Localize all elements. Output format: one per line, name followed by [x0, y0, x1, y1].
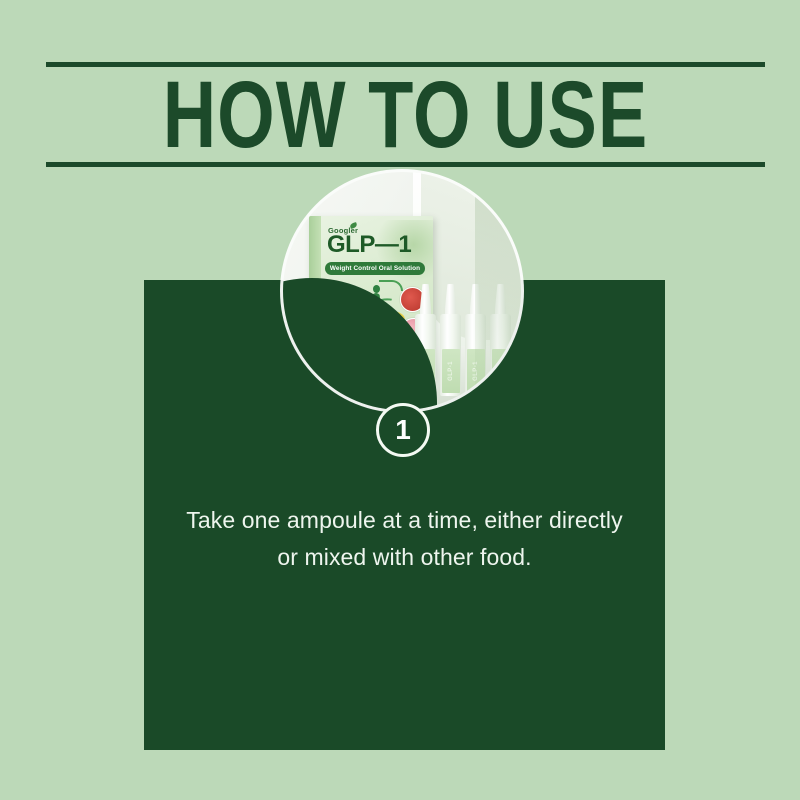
photo-vignette [475, 172, 521, 410]
page-title-text: HOW TO USE [163, 67, 649, 162]
step-number: 1 [395, 416, 411, 444]
header-rule-bottom [46, 162, 765, 167]
header: HOW TO USE [46, 62, 765, 167]
product-subtitle: Weight Control Oral Solution [330, 265, 420, 272]
page-title: HOW TO USE [46, 78, 765, 152]
ampoule-neck [445, 284, 456, 318]
photo-background: Googler GLP—1 Weight Control Oral Soluti… [283, 172, 521, 410]
product-subtitle-banner: Weight Control Oral Solution [325, 262, 425, 275]
ampoule-label: GLP-1 [442, 349, 460, 393]
product-name: GLP—1 [327, 233, 411, 257]
instruction-text: Take one ampoule at a time, either direc… [184, 502, 625, 577]
ampoule-neck [420, 284, 431, 318]
poster-canvas: HOW TO USE Take one ampoule at a time, e… [0, 0, 800, 800]
step-number-badge: 1 [376, 403, 430, 457]
silhouette-head [373, 285, 380, 293]
product-photo: Googler GLP—1 Weight Control Oral Soluti… [283, 172, 521, 410]
ampoule: GLP-1 [440, 284, 461, 396]
ampoule-label-text: GLP-1 [448, 361, 454, 381]
